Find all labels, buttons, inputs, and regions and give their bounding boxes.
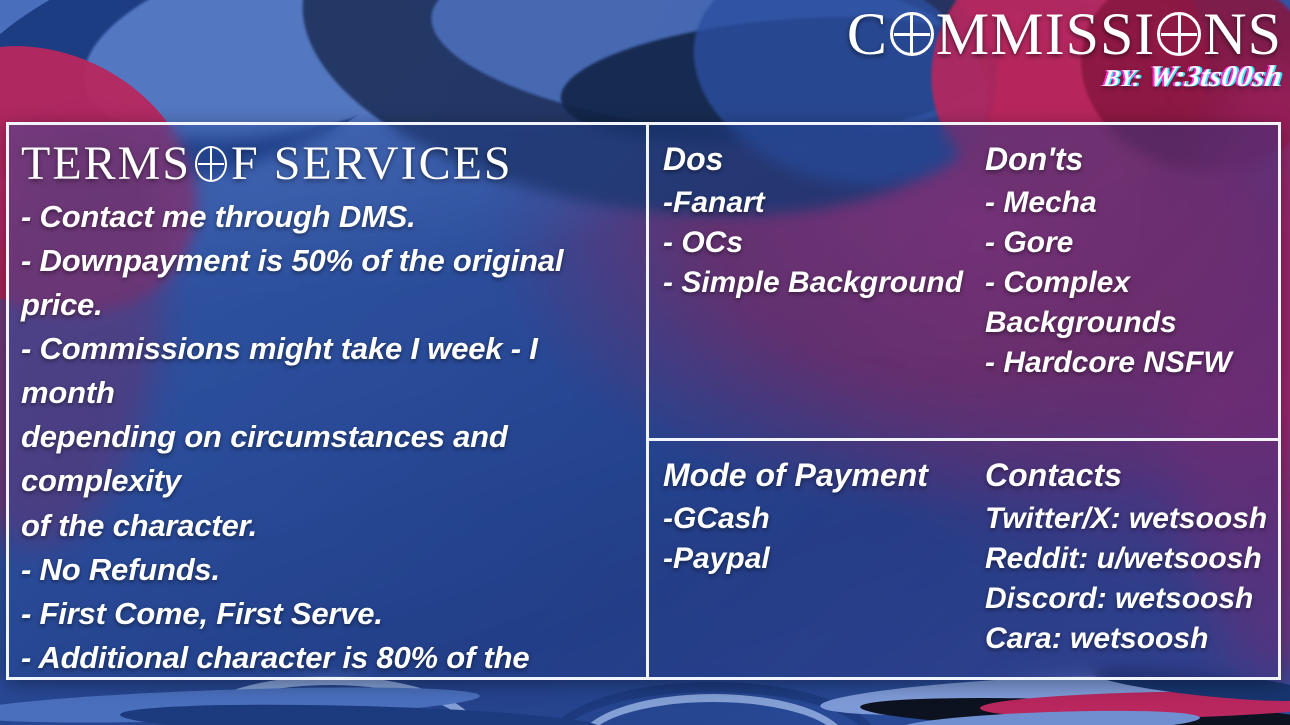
payment-item: -GCash [663, 499, 971, 539]
dos-item: -Fanart [663, 183, 971, 223]
right-column: Dos -Fanart - OCs - Simple Background Do… [649, 125, 1278, 677]
header: C MMISSI NS BY: W:3ts00sh [847, 4, 1282, 94]
byline-handle: W:3ts00sh [1147, 60, 1285, 93]
terms-title: TERMS F SERVICES [21, 139, 636, 189]
page-title-part: C [847, 4, 888, 64]
terms-line: - Downpayment is 50% of the original pri… [21, 239, 636, 327]
donts-item: - Hardcore NSFW [985, 343, 1278, 383]
contact-item[interactable]: Reddit: u/wetsoosh [985, 539, 1278, 579]
donts-item: - Gore [985, 223, 1278, 263]
crossed-circle-icon [889, 11, 935, 57]
commission-sheet: C MMISSI NS BY: W:3ts00sh TERMS F SERVIC… [0, 0, 1290, 725]
terms-line: - Commissions might take I week - I mont… [21, 327, 636, 415]
dos-heading: Dos [663, 139, 971, 179]
terms-line: - No Refunds. [21, 548, 636, 592]
terms-line: - First Come, First Serve. [21, 592, 636, 636]
payment-section: Mode of Payment -GCash -Paypal [649, 455, 971, 677]
payment-heading: Mode of Payment [663, 455, 971, 495]
byline: BY: W:3ts00sh [844, 60, 1284, 94]
contact-item[interactable]: Twitter/X: wetsoosh [985, 499, 1278, 539]
payment-contacts-row: Mode of Payment -GCash -Paypal Contacts … [649, 441, 1278, 677]
donts-item: - Complex [985, 263, 1278, 303]
terms-line: of the character. [21, 504, 636, 548]
terms-of-services-section: TERMS F SERVICES - Contact me through DM… [9, 125, 649, 677]
terms-title-part: TERMS [21, 139, 191, 189]
terms-line: depending on circumstances and complexit… [21, 415, 636, 503]
dos-item: - OCs [663, 223, 971, 263]
dos-item: - Simple Background [663, 263, 971, 303]
payment-item: -Paypal [663, 539, 971, 579]
dos-donts-row: Dos -Fanart - OCs - Simple Background Do… [649, 125, 1278, 441]
contact-item[interactable]: Cara: wetsoosh [985, 619, 1278, 659]
byline-prefix: BY: [1102, 66, 1144, 92]
terms-line: - Contact me through DMS. [21, 195, 636, 239]
contact-item[interactable]: Discord: wetsoosh [985, 579, 1278, 619]
donts-item: Backgrounds [985, 303, 1278, 343]
page-title-part: NS [1203, 4, 1282, 64]
contacts-section: Contacts Twitter/X: wetsoosh Reddit: u/w… [971, 455, 1278, 677]
donts-section: Don'ts - Mecha - Gore - Complex Backgrou… [971, 139, 1278, 438]
contacts-heading: Contacts [985, 455, 1278, 495]
terms-line: - Additional character is 80% of the ori… [21, 636, 636, 680]
terms-title-part: F SERVICES [231, 139, 513, 189]
crossed-circle-icon [1156, 11, 1202, 57]
info-panel: TERMS F SERVICES - Contact me through DM… [6, 122, 1281, 680]
crossed-circle-icon [193, 145, 229, 183]
donts-item: - Mecha [985, 183, 1278, 223]
page-title-part: MMISSI [936, 4, 1155, 64]
page-title: C MMISSI NS [847, 4, 1282, 64]
dos-section: Dos -Fanart - OCs - Simple Background [649, 139, 971, 438]
donts-heading: Don'ts [985, 139, 1278, 179]
